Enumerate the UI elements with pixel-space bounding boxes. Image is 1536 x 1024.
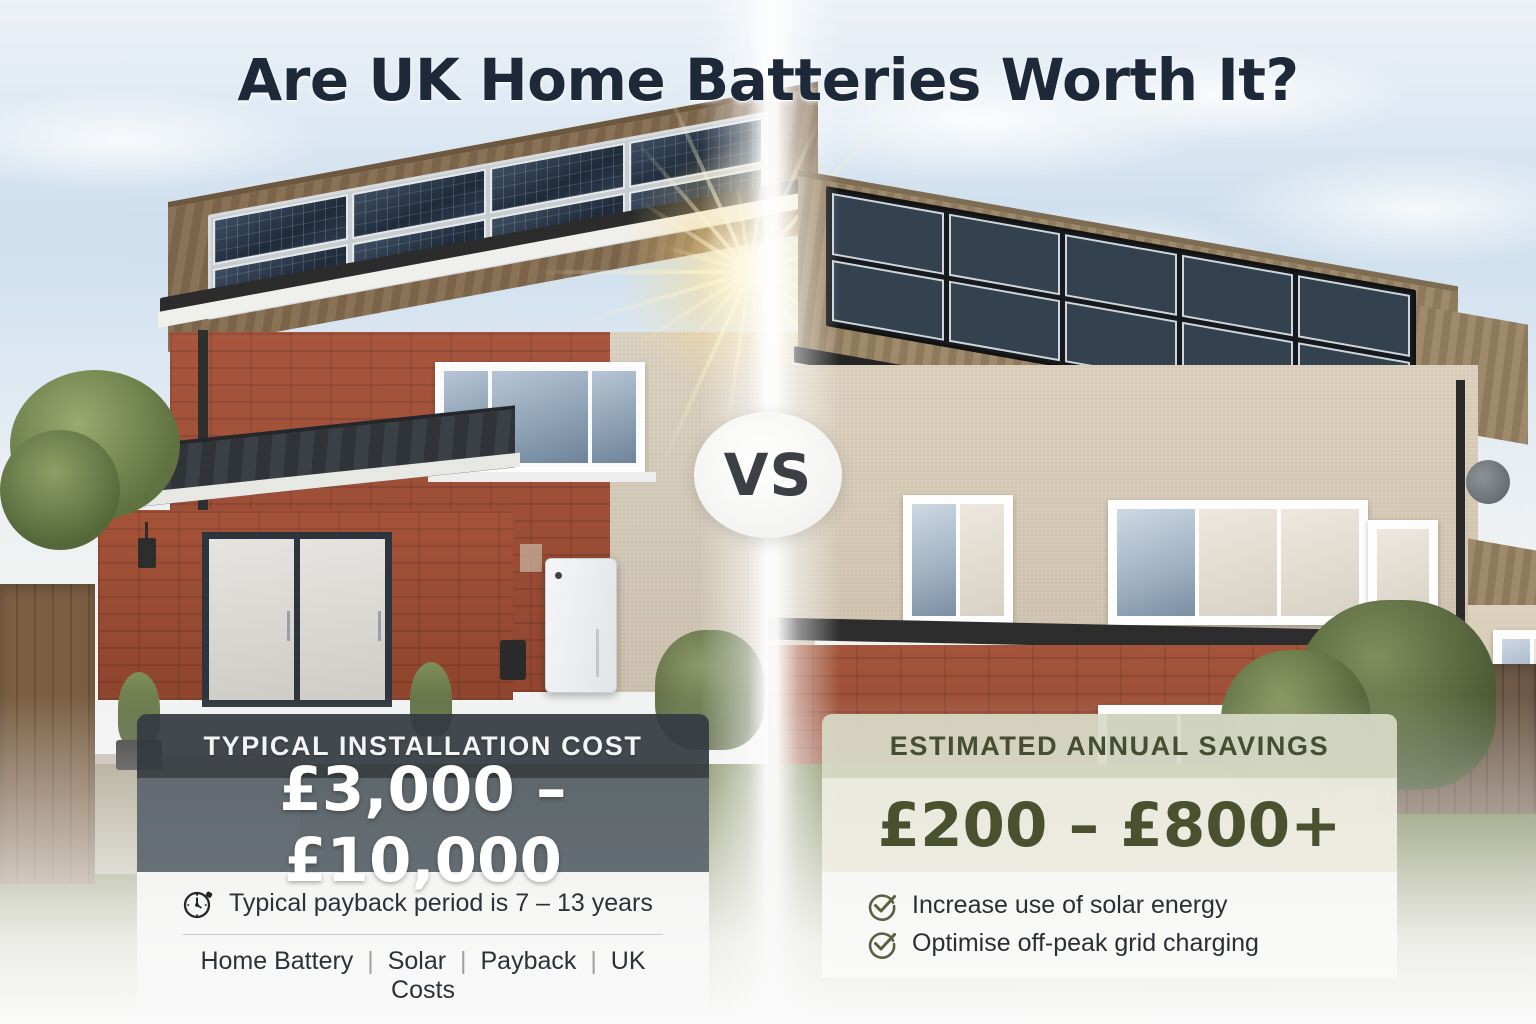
benefit-text: Increase use of solar energy: [912, 891, 1227, 920]
infographic-canvas: Are UK Home Batteries Worth It? VS TYPIC…: [0, 0, 1536, 1024]
wall-meter-box: [520, 544, 542, 572]
vs-label: VS: [724, 441, 813, 509]
right-window-center: [1108, 500, 1368, 625]
home-battery-unit: [545, 558, 617, 693]
tag-separator: |: [360, 947, 381, 975]
annual-savings-value: £200 – £800+: [822, 778, 1397, 872]
benefit-item: Increase use of solar energy: [822, 886, 1397, 924]
check-circle-icon: [866, 889, 898, 921]
tag-item: Payback: [481, 947, 577, 975]
benefit-item: Optimise off-peak grid charging: [822, 924, 1397, 962]
vs-badge: VS: [694, 412, 842, 538]
installation-cost-card: TYPICAL INSTALLATION COST £3,000 – £10,0…: [137, 714, 709, 1017]
tag-item: Solar: [388, 947, 446, 975]
left-window-sill: [428, 472, 656, 482]
tag-separator: |: [453, 947, 474, 975]
annual-savings-header: ESTIMATED ANNUAL SAVINGS: [822, 714, 1397, 778]
payback-note-text: Typical payback period is 7 – 13 years: [229, 889, 653, 918]
porch-lamp-icon: [138, 538, 156, 568]
page-title: Are UK Home Batteries Worth It?: [0, 46, 1536, 114]
stopwatch-icon: [181, 886, 215, 920]
footer-divider: [183, 934, 663, 935]
inverter-box: [500, 640, 526, 680]
installation-cost-value: £3,000 – £10,000: [137, 778, 709, 872]
right-window-small-left: [903, 495, 1013, 625]
annual-savings-card: ESTIMATED ANNUAL SAVINGS £200 – £800+ In…: [822, 714, 1397, 978]
tag-list: Home Battery | Solar | Payback | UK Cost…: [137, 947, 709, 1005]
tree-left-lower: [0, 430, 120, 550]
check-circle-icon: [866, 927, 898, 959]
benefit-text: Optimise off-peak grid charging: [912, 929, 1259, 958]
french-doors: [202, 532, 392, 707]
tag-item: Home Battery: [200, 947, 353, 975]
tag-separator: |: [583, 947, 604, 975]
annual-savings-footer: Increase use of solar energy Optimise of…: [822, 872, 1397, 978]
